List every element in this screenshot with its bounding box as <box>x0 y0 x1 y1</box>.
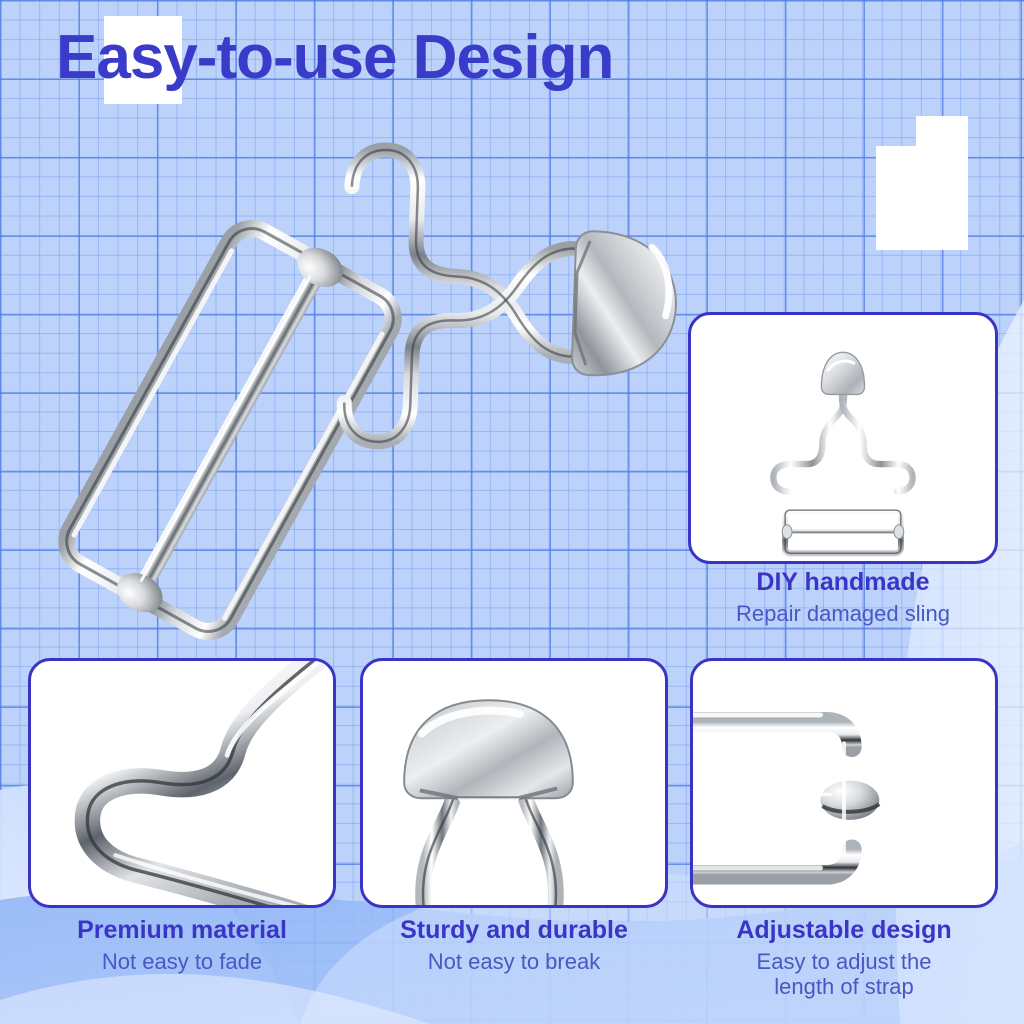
card-art-slide-closeup <box>693 661 995 906</box>
caption-sub-diy: Repair damaged sling <box>688 601 998 627</box>
caption-adjustable-design: Adjustable design Easy to adjust the len… <box>682 916 1006 1000</box>
caption-title-premium: Premium material <box>20 916 344 946</box>
card-sturdy-durable[interactable] <box>360 658 668 908</box>
card-adjustable-design[interactable] <box>690 658 998 908</box>
caption-diy-handmade: DIY handmade Repair damaged sling <box>688 568 998 626</box>
infographic-canvas: DIY handmade Repair damaged sling Premi <box>0 0 1024 1024</box>
diy-slide-glyph <box>782 510 904 553</box>
caption-sturdy-durable: Sturdy and durable Not easy to break <box>352 916 676 974</box>
card-art-domed-cap <box>363 661 665 906</box>
caption-title-adjustable: Adjustable design <box>682 916 1006 946</box>
caption-sub-adjustable-line2: length of strap <box>682 974 1006 1000</box>
caption-title-diy: DIY handmade <box>688 568 998 598</box>
diy-clip-glyph <box>773 352 912 491</box>
caption-title-sturdy: Sturdy and durable <box>352 916 676 946</box>
caption-premium-material: Premium material Not easy to fade <box>20 916 344 974</box>
page-title: Easy-to-use Design <box>56 25 613 92</box>
caption-sub-adjustable-line1: Easy to adjust the <box>682 949 1006 975</box>
card-premium-material[interactable] <box>28 658 336 908</box>
card-art-buckle-and-slide <box>691 315 995 562</box>
caption-sub-sturdy: Not easy to break <box>352 949 676 975</box>
caption-sub-premium: Not easy to fade <box>20 949 344 975</box>
card-diy-handmade[interactable] <box>688 312 998 564</box>
card-art-wire-curve <box>31 661 333 906</box>
